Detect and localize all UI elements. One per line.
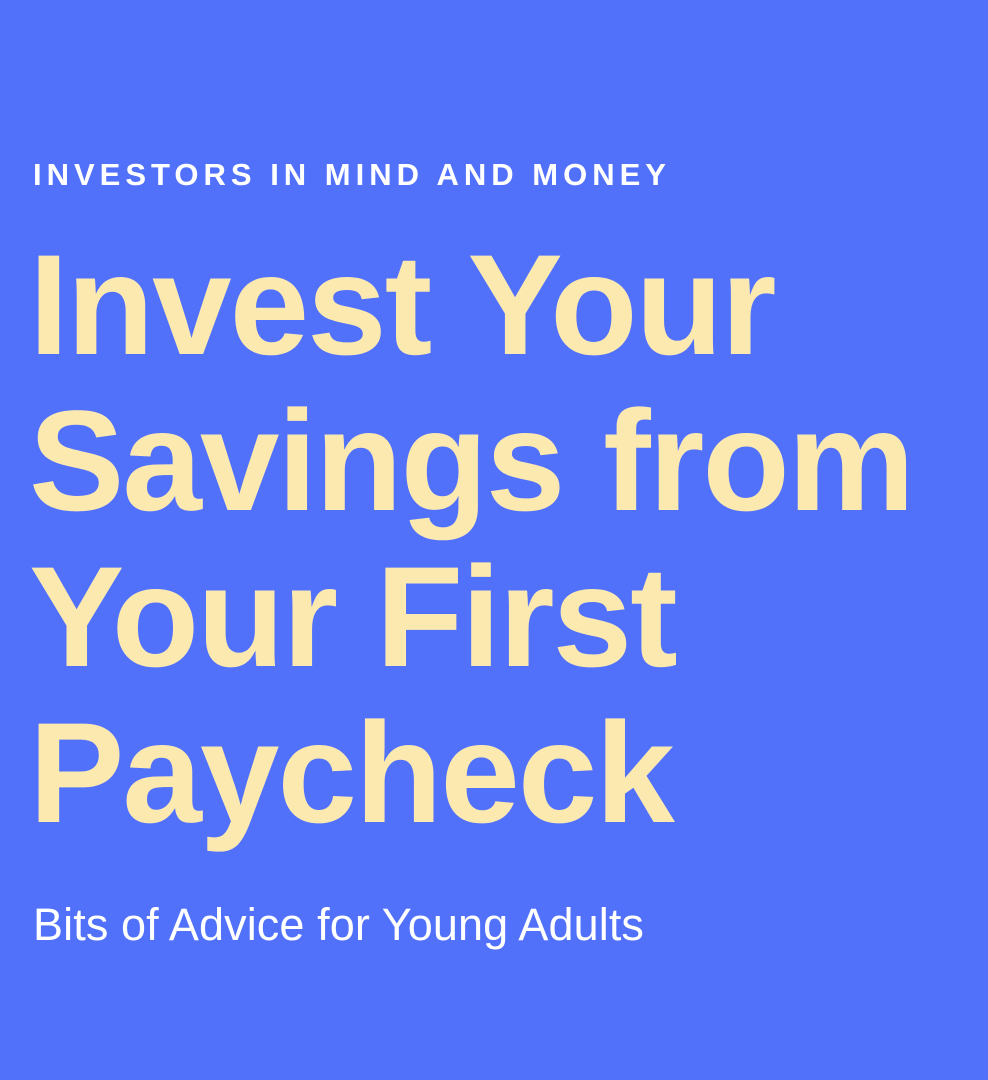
poster-canvas: INVESTORS IN MIND AND MONEY Invest Your … — [0, 0, 988, 1080]
eyebrow-label: INVESTORS IN MIND AND MONEY — [33, 159, 933, 192]
subtitle-text: Bits of Advice for Young Adults — [33, 899, 933, 951]
page-title: Invest Your Savings from Your First Payc… — [29, 228, 929, 852]
poster-content: INVESTORS IN MIND AND MONEY Invest Your … — [33, 0, 958, 1080]
